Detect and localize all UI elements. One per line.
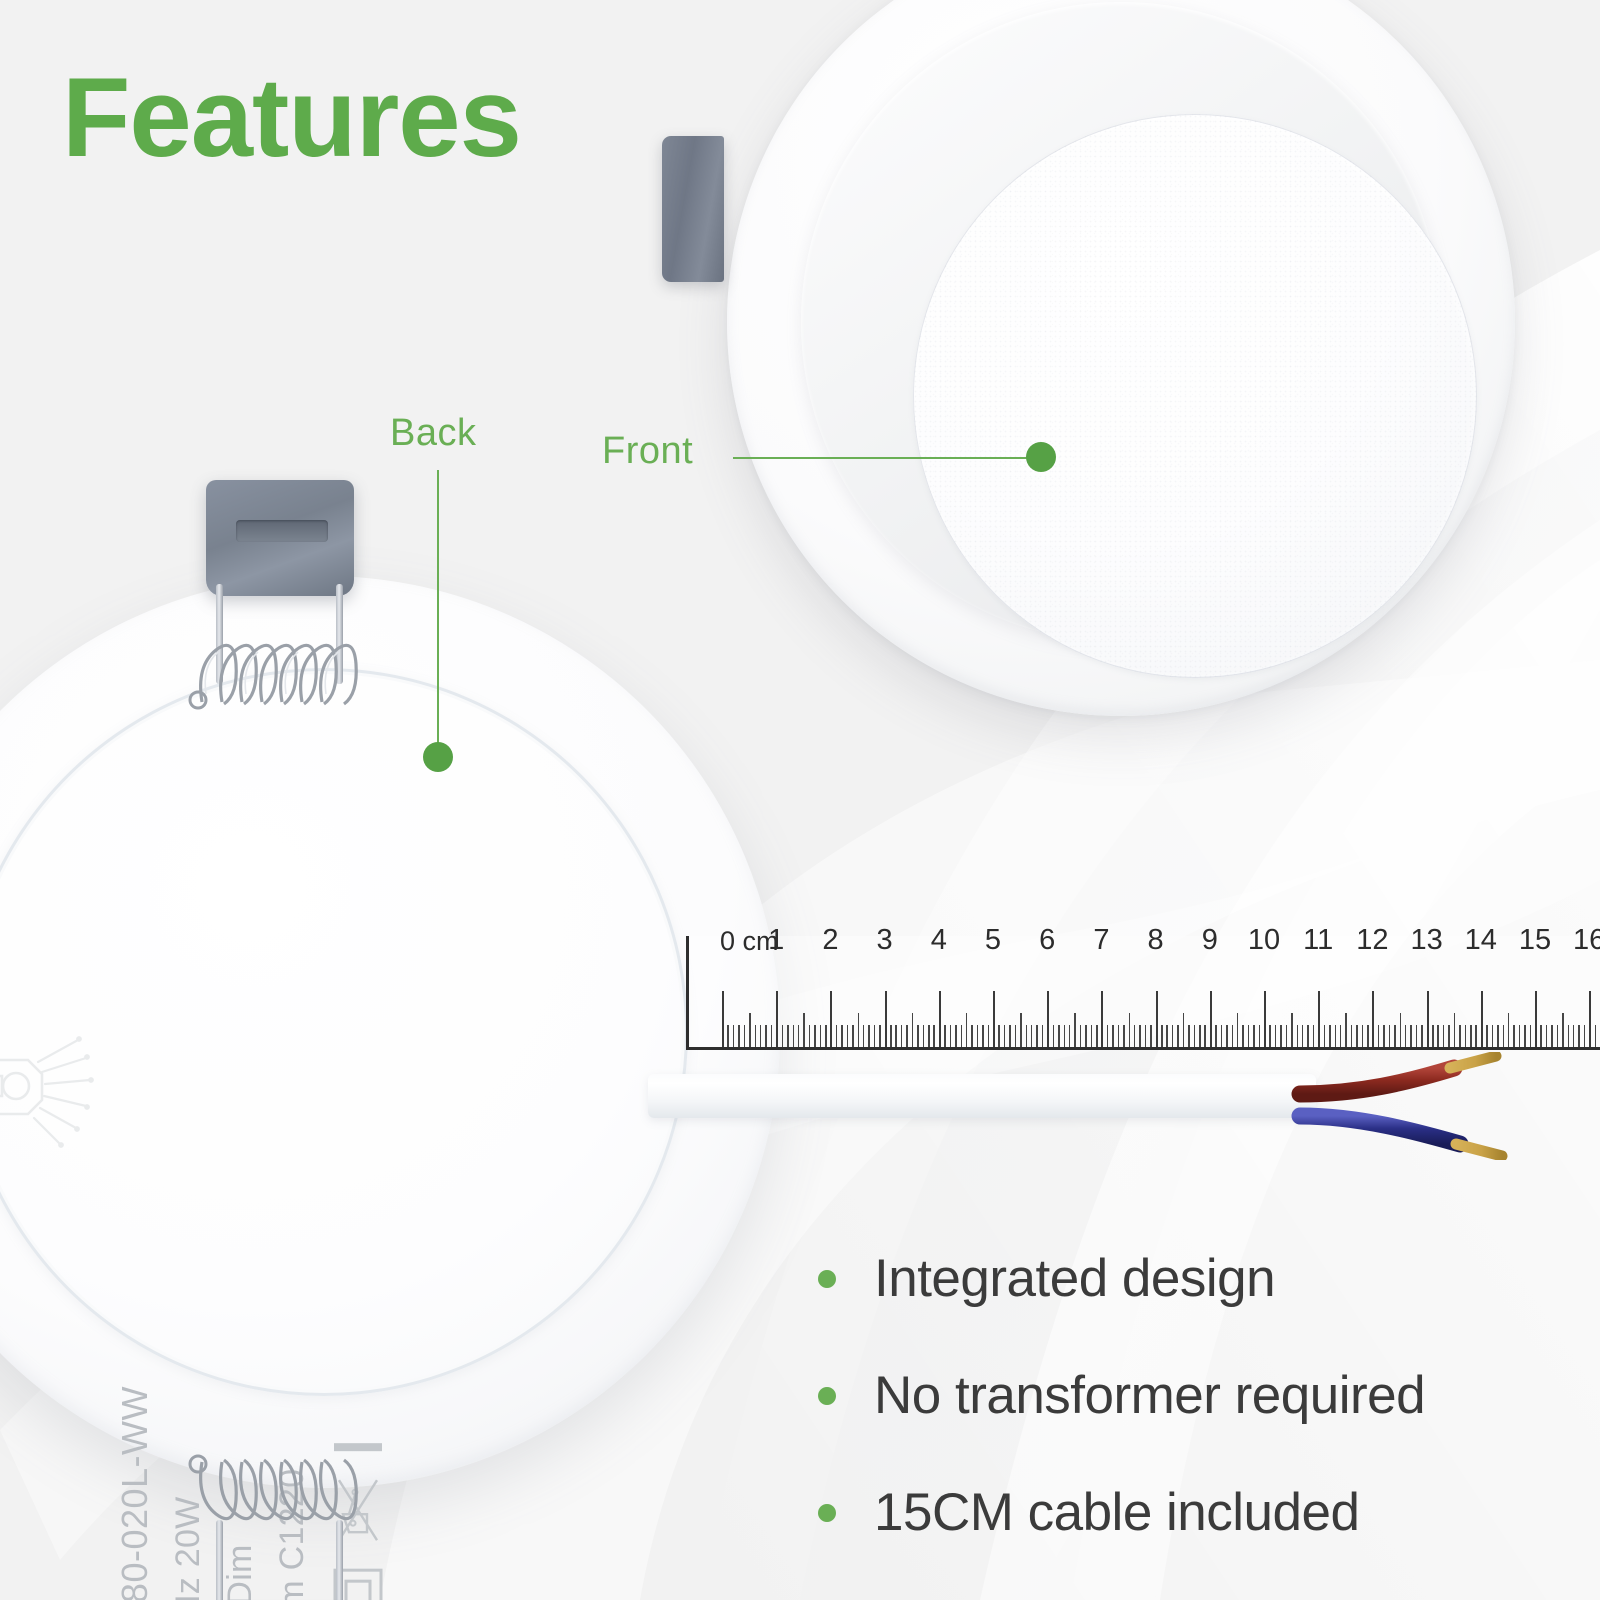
ruler-tick-minor <box>1026 1025 1028 1047</box>
ruler-tick-minor <box>1058 1025 1060 1047</box>
ruler-tick-minor <box>1416 1025 1418 1047</box>
ruler-tick-minor <box>1465 1025 1467 1047</box>
ruler-tick-minor <box>1074 1013 1076 1047</box>
ruler-tick-minor <box>1497 1025 1499 1047</box>
list-item: No transformer required <box>818 1365 1578 1426</box>
ruler-tick-minor <box>1345 1013 1347 1047</box>
ruler-tick-minor <box>1291 1013 1293 1047</box>
ruler-tick-minor <box>1313 1025 1315 1047</box>
ruler-tick-minor <box>1269 1025 1271 1047</box>
ruler-tick-minor <box>1378 1025 1380 1047</box>
ruler-tick-minor <box>1183 1013 1185 1047</box>
ruler-tick-minor <box>1042 1025 1044 1047</box>
front-diffuser <box>913 114 1477 678</box>
ruler-tick-minor <box>1069 1025 1071 1047</box>
downlight-front-view <box>727 0 1515 716</box>
ruler-tick-minor <box>1053 1025 1055 1047</box>
ruler-tick-minor <box>1286 1025 1288 1047</box>
spring-coil-icon <box>188 632 376 716</box>
product-feature-page: Features <box>0 0 1600 1600</box>
ruler-tick-minor <box>1036 1025 1038 1047</box>
ruler-tick-minor <box>1324 1025 1326 1047</box>
ruler-tick-minor <box>863 1025 865 1047</box>
ruler-tick-major <box>1535 991 1537 1047</box>
ruler-number: 2 <box>822 924 838 957</box>
ruler-tick-minor <box>733 1025 735 1047</box>
ruler-tick-minor <box>836 1025 838 1047</box>
ruler-tick-minor <box>1139 1025 1141 1047</box>
ruler-tick-minor <box>1242 1025 1244 1047</box>
ruler-tick-minor <box>1546 1025 1548 1047</box>
ruler-tick-minor <box>1524 1025 1526 1047</box>
ruler-tick-minor <box>1226 1025 1228 1047</box>
ruler-tick-minor <box>895 1025 897 1047</box>
ruler-tick-minor <box>852 1025 854 1047</box>
ruler-number: 1 <box>768 924 784 957</box>
bullet-dot-icon <box>818 1387 836 1405</box>
callout-label-back: Back <box>390 412 476 455</box>
ruler-tick-minor <box>944 1025 946 1047</box>
ruler-tick-minor <box>1394 1025 1396 1047</box>
ruler-tick-minor <box>1177 1025 1179 1047</box>
ruler-tick-major <box>1481 991 1483 1047</box>
label-model: DL-CSA80-020L-WW <box>114 1386 156 1600</box>
bullet-dot-icon <box>818 1270 836 1288</box>
callout-leader-back <box>437 470 439 755</box>
ruler-tick-minor <box>1595 1025 1597 1047</box>
ruler-tick-minor <box>738 1025 740 1047</box>
ruler-tick-minor <box>1568 1025 1570 1047</box>
ruler-tick-minor <box>1166 1025 1168 1047</box>
diffuser-texture <box>913 114 1477 678</box>
ruler-tick-minor <box>1107 1025 1109 1047</box>
ruler-baseline <box>686 1047 1600 1050</box>
ruler-tick-minor <box>803 1013 805 1047</box>
ruler-tick-minor <box>1172 1025 1174 1047</box>
ruler-number: 8 <box>1148 924 1164 957</box>
ruler-tick-minor <box>1248 1025 1250 1047</box>
ruler-zero-edge <box>686 936 689 1050</box>
ruler-tick-minor <box>1009 1025 1011 1047</box>
ruler-tick-minor <box>1020 1013 1022 1047</box>
ruler-tick-major <box>776 991 778 1047</box>
ruler-tick-minor <box>1015 1025 1017 1047</box>
ruler-tick-minor <box>1129 1013 1131 1047</box>
ruler-tick-major <box>1156 991 1158 1047</box>
ruler-tick-minor <box>1470 1025 1472 1047</box>
downlight-back-view: ALUSSO® DL-CSA80-020L-WW AC220-240V 50/6… <box>0 576 780 1488</box>
ruler-number: 12 <box>1356 924 1388 957</box>
ruler-tick-minor <box>1459 1025 1461 1047</box>
ruler-tick-major <box>1047 991 1049 1047</box>
measuring-ruler: 0 cm 12345678910111213141516 <box>686 862 1600 1050</box>
ruler-tick-minor <box>1215 1025 1217 1047</box>
ruler-tick-minor <box>1400 1013 1402 1047</box>
ruler-tick-minor <box>1475 1025 1477 1047</box>
ruler-tick-minor <box>1150 1025 1152 1047</box>
ruler-number: 4 <box>931 924 947 957</box>
front-trim-ring <box>801 2 1441 642</box>
ruler-tick-minor <box>1540 1025 1542 1047</box>
ruler-tick-minor <box>1307 1025 1309 1047</box>
ruler-tick-minor <box>1513 1025 1515 1047</box>
ruler-tick-minor <box>1199 1025 1201 1047</box>
ruler-tick-minor <box>928 1025 930 1047</box>
ruler-tick-minor <box>1530 1025 1532 1047</box>
ruler-tick-minor <box>1519 1025 1521 1047</box>
ruler-tick-minor <box>1335 1025 1337 1047</box>
ruler-tick-minor <box>765 1025 767 1047</box>
ruler-tick-minor <box>901 1025 903 1047</box>
ruler-tick-minor <box>1204 1025 1206 1047</box>
spring-clip-bottom <box>168 1424 388 1600</box>
ruler-tick-minor <box>1232 1025 1234 1047</box>
spring-coil-bottom-icon <box>188 1448 376 1532</box>
ruler-tick-minor <box>923 1025 925 1047</box>
ruler-tick-minor <box>1091 1025 1093 1047</box>
label-brand-line: ALUSSO® DL-CSA80-020L-WW <box>114 1386 156 1600</box>
ruler-tick-major <box>993 991 995 1047</box>
ruler-number: 10 <box>1248 924 1280 957</box>
feature-text: Integrated design <box>874 1248 1275 1309</box>
ruler-number: 9 <box>1202 924 1218 957</box>
ruler-tick-minor <box>1405 1025 1407 1047</box>
ruler-tick-minor <box>1557 1025 1559 1047</box>
ruler-tick-minor <box>1492 1025 1494 1047</box>
ruler-tick-major <box>1372 991 1374 1047</box>
ruler-tick-minor <box>1448 1025 1450 1047</box>
ruler-tick-minor <box>744 1025 746 1047</box>
callout-dot-front <box>1026 442 1056 472</box>
ruler-number: 11 <box>1303 924 1333 957</box>
ruler-tick-minor <box>1584 1025 1586 1047</box>
ruler-tick-minor <box>1443 1025 1445 1047</box>
ruler-tick-major <box>1210 991 1212 1047</box>
ruler-tick-minor <box>825 1025 827 1047</box>
ruler-tick-minor <box>890 1025 892 1047</box>
ruler-tick-minor <box>1508 1013 1510 1047</box>
ruler-tick-minor <box>1134 1025 1136 1047</box>
embossed-logo-icon <box>0 976 108 1196</box>
ruler-tick-minor <box>1410 1025 1412 1047</box>
cable-conductors <box>648 1052 1600 1160</box>
front-spring-clip <box>662 136 724 282</box>
ruler-tick-minor <box>950 1025 952 1047</box>
callout-dot-back <box>423 742 453 772</box>
bullet-dot-icon <box>818 1504 836 1522</box>
ruler-tick-minor <box>1367 1025 1369 1047</box>
feature-text: No transformer required <box>874 1365 1425 1426</box>
ruler-tick-minor <box>1085 1025 1087 1047</box>
ruler-tick-minor <box>1118 1025 1120 1047</box>
ruler-tick-minor <box>1031 1025 1033 1047</box>
ruler-tick-minor <box>1503 1025 1505 1047</box>
ruler-tick-minor <box>961 1025 963 1047</box>
ruler-tick-minor <box>798 1025 800 1047</box>
front-bezel <box>727 0 1515 716</box>
ruler-tick-minor <box>1275 1025 1277 1047</box>
ruler-tick-minor <box>1432 1025 1434 1047</box>
ruler-tick-minor <box>906 1025 908 1047</box>
ruler-number: 7 <box>1093 924 1109 957</box>
ruler-tick-minor <box>787 1025 789 1047</box>
ruler-tick-minor <box>1194 1025 1196 1047</box>
ruler-tick-minor <box>1486 1025 1488 1047</box>
ruler-tick-minor <box>955 1025 957 1047</box>
feature-list: Integrated design No transformer require… <box>818 1248 1578 1599</box>
ruler-tick-minor <box>760 1025 762 1047</box>
ruler-tick-major <box>830 991 832 1047</box>
ruler-number: 13 <box>1410 924 1442 957</box>
ruler-tick-minor <box>933 1025 935 1047</box>
ruler-tick-minor <box>1297 1025 1299 1047</box>
ruler-tick-minor <box>1551 1025 1553 1047</box>
ruler-tick-minor <box>988 1025 990 1047</box>
ruler-tick-major <box>1318 991 1320 1047</box>
ruler-tick-minor <box>1123 1025 1125 1047</box>
ruler-tick-minor <box>1454 1013 1456 1047</box>
ruler-tick-minor <box>727 1025 729 1047</box>
ruler-tick-minor <box>782 1025 784 1047</box>
ruler-tick-minor <box>755 1025 757 1047</box>
ruler-tick-minor <box>1161 1025 1163 1047</box>
ruler-tick-minor <box>1389 1025 1391 1047</box>
ruler-tick-minor <box>1280 1025 1282 1047</box>
ruler-tick-minor <box>1437 1025 1439 1047</box>
ruler-tick-minor <box>966 1013 968 1047</box>
ruler-tick-minor <box>917 1025 919 1047</box>
ruler-tick-major <box>722 991 724 1047</box>
ruler-tick-minor <box>1188 1025 1190 1047</box>
ruler-tick-minor <box>874 1025 876 1047</box>
ruler-number: 14 <box>1465 924 1497 957</box>
list-item: Integrated design <box>818 1248 1578 1309</box>
ruler-tick-minor <box>1329 1025 1331 1047</box>
spring-clip-top <box>168 480 388 720</box>
ruler-tick-minor <box>814 1025 816 1047</box>
ruler-tick-minor <box>1064 1025 1066 1047</box>
ruler-tick-minor <box>1259 1025 1261 1047</box>
ruler-number: 15 <box>1519 924 1551 957</box>
ruler-tick-minor <box>998 1025 1000 1047</box>
ruler-tick-minor <box>809 1025 811 1047</box>
ruler-tick-major <box>1589 991 1591 1047</box>
ruler-tick-major <box>885 991 887 1047</box>
ruler-tick-minor <box>879 1025 881 1047</box>
ruler-tick-minor <box>1421 1025 1423 1047</box>
ruler-tick-minor <box>771 1025 773 1047</box>
ruler-tick-minor <box>847 1025 849 1047</box>
ruler-tick-minor <box>1145 1025 1147 1047</box>
ruler-tick-minor <box>793 1025 795 1047</box>
ruler-number: 16 <box>1573 924 1600 957</box>
ruler-tick-minor <box>971 1025 973 1047</box>
ruler-tick-minor <box>1340 1025 1342 1047</box>
ruler-tick-minor <box>1004 1025 1006 1047</box>
power-cable <box>648 1052 1600 1160</box>
ruler-tick-minor <box>1356 1025 1358 1047</box>
ruler-number: 5 <box>985 924 1001 957</box>
ruler-tick-minor <box>1080 1025 1082 1047</box>
callout-label-front: Front <box>602 430 693 473</box>
ruler-tick-minor <box>1383 1025 1385 1047</box>
ruler-tick-minor <box>1237 1013 1239 1047</box>
ruler-tick-minor <box>749 1013 751 1047</box>
ruler-tick-minor <box>841 1025 843 1047</box>
ruler-tick-minor <box>868 1025 870 1047</box>
ruler-tick-minor <box>820 1025 822 1047</box>
ruler-tick-minor <box>982 1025 984 1047</box>
ruler-tick-minor <box>1562 1013 1564 1047</box>
ruler-tick-major <box>1101 991 1103 1047</box>
ruler-tick-minor <box>1302 1025 1304 1047</box>
ruler-tick-minor <box>858 1013 860 1047</box>
ruler-tick-major <box>1427 991 1429 1047</box>
ruler-tick-minor <box>1573 1025 1575 1047</box>
list-item: 15CM cable included <box>818 1482 1578 1543</box>
page-title: Features <box>62 62 521 174</box>
ruler-tick-minor <box>1253 1025 1255 1047</box>
ruler-tick-minor <box>1362 1025 1364 1047</box>
ruler-tick-minor <box>1578 1025 1580 1047</box>
ruler-tick-major <box>939 991 941 1047</box>
callout-leader-front <box>733 457 1033 459</box>
ruler-tick-minor <box>1221 1025 1223 1047</box>
ruler-tick-minor <box>912 1013 914 1047</box>
feature-text: 15CM cable included <box>874 1482 1359 1543</box>
ruler-number: 3 <box>877 924 893 957</box>
ruler-number: 6 <box>1039 924 1055 957</box>
ruler-tick-minor <box>977 1025 979 1047</box>
ruler-tick-major <box>1264 991 1266 1047</box>
ruler-tick-minor <box>1096 1025 1098 1047</box>
ruler-tick-minor <box>1351 1025 1353 1047</box>
ruler-tick-minor <box>1112 1025 1114 1047</box>
